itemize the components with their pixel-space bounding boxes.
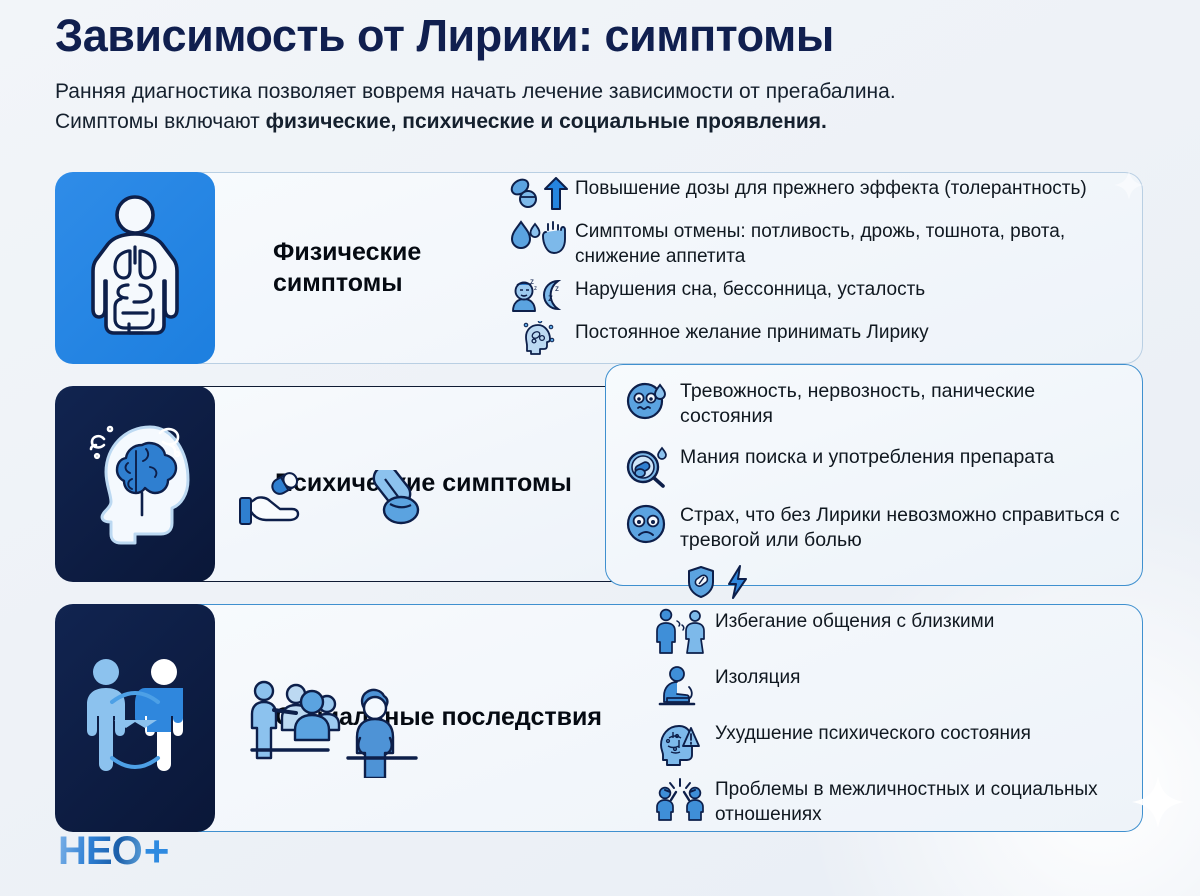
conflict-people-icon [655,777,707,821]
physical-heading: Физические симптомы [273,237,483,300]
pills-up-arrow-icon [507,176,569,212]
bullet-text: Повышение дозы для прежнего эффекта (тол… [575,176,1087,202]
header: Зависимость от Лирики: симптомы Ранняя д… [55,12,1155,137]
bullet-text: Тревожность, нервозность, панические сос… [680,378,1126,430]
bullet-text: Страх, что без Лирики невозможно справит… [680,502,1126,554]
social-icon-panel [55,604,215,832]
two-people-handshake-icon [76,654,194,782]
svg-text:z: z [534,286,537,292]
craving-head-icon [507,320,569,356]
bullet-item: Страх, что без Лирики невозможно справит… [624,502,1126,554]
subtitle-line-2: Симптомы включают физические, психически… [55,107,1145,137]
page-title: Зависимость от Лирики: симптомы [55,12,1155,61]
bullet-text: Постоянное желание принимать Лирику [575,320,929,346]
social-mid-icons [244,662,424,778]
bullet-text: Избегание общения с близкими [715,609,994,635]
subtitle-line-1: Ранняя диагностика позволяет вовремя нач… [55,77,1145,107]
bullet-text: Симптомы отмены: потливость, дрожь, тошн… [575,219,1142,269]
pills-group-icon [354,470,430,532]
mental-icon-panel [55,386,215,582]
anxious-face-icon [624,378,670,422]
bullet-text: Проблемы в межличностных и социальных от… [715,777,1142,827]
physical-icon-panel [55,172,215,364]
broken-mind-head-icon [655,721,707,765]
bullet-text: Изоляция [715,665,800,691]
water-drop-hand-icon [507,219,569,255]
bullet-item: Проблемы в межличностных и социальных от… [655,777,1142,827]
mental-mid-icons [238,470,430,532]
shield-pill-icon [686,565,716,599]
mental-bullet-list: Тревожность, нервозность, панические сос… [624,378,1126,599]
logo-text: НЕО [58,829,142,874]
svg-text:z: z [530,277,534,286]
page-subtitle: Ранняя диагностика позволяет вовремя нач… [55,77,1145,138]
group-isolation-icon [244,662,424,778]
svg-text:z: z [548,293,553,304]
fearful-face-icon [624,502,670,546]
bullet-item: Симптомы отмены: потливость, дрожь, тошн… [507,219,1142,269]
subtitle-plain: Симптомы включают [55,110,266,133]
social-bullet-list: Избегание общения с близкими Изоляция [655,609,1142,827]
subtitle-bold: физические, психические и социальные про… [266,110,827,133]
bullet-text: Ухудшение психического состояния [715,721,1031,747]
svg-text:z: z [555,284,559,293]
card-physical-symptoms: Физические симптомы Повышение дозы для п… [55,172,1143,364]
hand-capsule-icon [238,470,318,532]
magnifier-pill-icon [624,444,670,488]
lightning-bolt-icon [726,565,750,599]
bullet-item: z z z z Нарушения сна, бессонница, устал… [507,277,1142,313]
bullet-item: Изоляция [655,665,1142,709]
human-anatomy-icon [83,193,187,343]
bullet-item: Мания поиска и употребления препарата [624,444,1126,488]
bullet-item: Тревожность, нервозность, панические сос… [624,378,1126,430]
bullet-item: Постоянное желание принимать Лирику [507,320,1142,356]
sleeping-face-moon-icon: z z z z [507,277,569,313]
avoiding-couple-icon [655,609,707,653]
head-brain-icon [80,409,190,559]
physical-bullet-list: Повышение дозы для прежнего эффекта (тол… [507,176,1142,359]
physical-body-panel: Физические симптомы Повышение дозы для п… [197,172,1143,364]
bullet-item: Ухудшение психического состояния [655,721,1142,765]
card-social-consequences: Социальные последствия [55,604,1143,832]
mental-bullets-container: Тревожность, нервозность, панические сос… [605,364,1143,586]
sitting-alone-icon [655,665,707,709]
logo: НЕО + [58,829,168,874]
mental-footer-icons [686,565,1126,599]
bullet-text: Нарушения сна, бессонница, усталость [575,277,925,303]
logo-plus-icon: + [144,832,169,872]
bullet-item: Избегание общения с близкими [655,609,1142,653]
bullet-item: Повышение дозы для прежнего эффекта (тол… [507,176,1142,212]
bullet-text: Мания поиска и употребления препарата [680,444,1054,470]
